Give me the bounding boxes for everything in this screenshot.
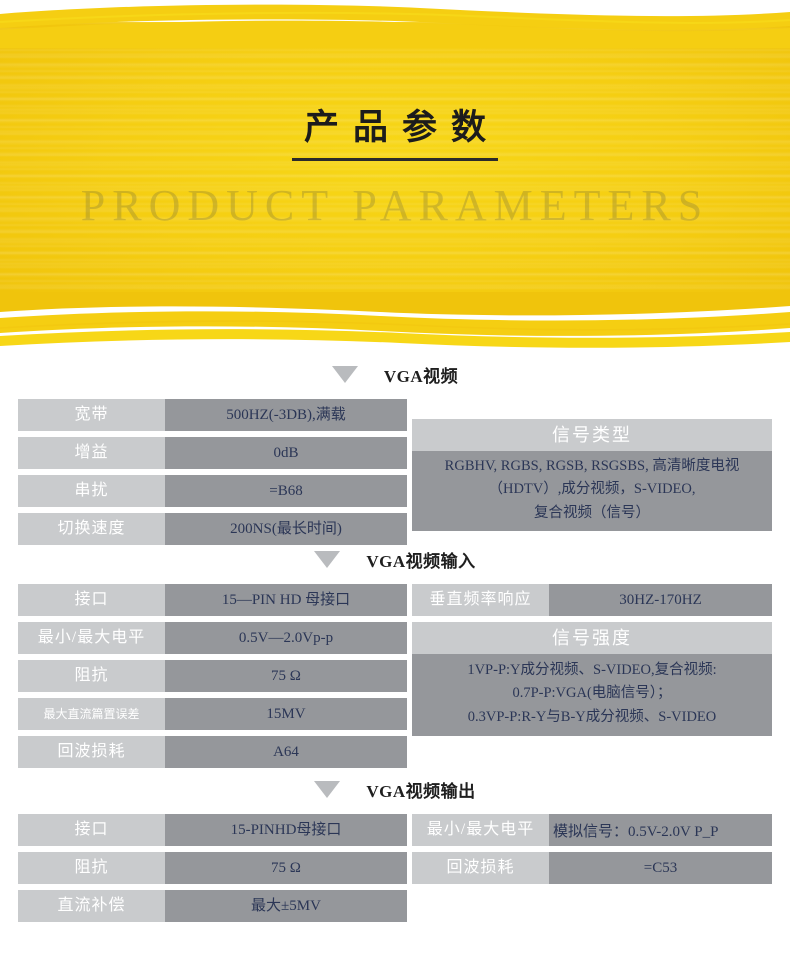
row-value: A64 [165, 736, 407, 768]
row-label: 切换速度 [18, 513, 165, 545]
table-vga-output-left: 接口 15-PINHD母接口 阻抗 75 Ω 直流补偿 最大±5MV [18, 814, 407, 922]
table-row: 阻抗 75 Ω [18, 852, 407, 884]
signal-strength-line: 0.7P-P:VGA(电脑信号）； [416, 682, 768, 705]
product-parameters-page: PRODUCT PARAMETERS 产品参数 VGA视频 宽带 500HZ(-… [0, 0, 790, 955]
table-row: 接口 15—PIN HD 母接口 [18, 584, 407, 616]
row-label: 串扰 [18, 475, 165, 507]
triangle-down-icon [314, 781, 340, 798]
page-title: 产品参数 [290, 108, 500, 148]
table-vga-video-left: 宽带 500HZ(-3DB),满载 增益 0dB 串扰 =B68 切换速度 20… [18, 399, 407, 545]
table-vga-video-right: 信号类型 RGBHV, RGBS, RGSB, RSGSBS, 高清晰度电视 （… [412, 419, 772, 531]
signal-type-line: RGBHV, RGBS, RGSB, RSGSBS, 高清晰度电视 [416, 455, 768, 478]
row-label: 接口 [18, 814, 165, 846]
row-value: 30HZ-170HZ [549, 584, 772, 616]
table-row: 回波损耗 A64 [18, 736, 407, 768]
row-label: 最大直流篇置误差 [18, 698, 165, 730]
row-label: 最小/最大电平 [18, 622, 165, 654]
signal-strength-line: 1VP-P:Y成分视频、S-VIDEO,复合视频: [416, 659, 768, 682]
table-row: 直流补偿 最大±5MV [18, 890, 407, 922]
hero-banner: PRODUCT PARAMETERS 产品参数 [0, 0, 790, 350]
signal-type-body: RGBHV, RGBS, RGSB, RSGSBS, 高清晰度电视 （HDTV）… [412, 451, 772, 531]
row-value: 15MV [165, 698, 407, 730]
signal-strength-body: 1VP-P:Y成分视频、S-VIDEO,复合视频: 0.7P-P:VGA(电脑信… [412, 654, 772, 736]
row-label: 阻抗 [18, 852, 165, 884]
section-header-vga-video-input: VGA视频输入 [0, 539, 790, 579]
table-row: 回波损耗 =C53 [412, 852, 772, 884]
row-label: 最小/最大电平 [412, 814, 549, 846]
signal-type-line: （HDTV）,成分视频，S-VIDEO, [416, 478, 768, 501]
row-value: 15-PINHD母接口 [165, 814, 407, 846]
table-vga-input-left: 接口 15—PIN HD 母接口 最小/最大电平 0.5V—2.0Vp-p 阻抗… [18, 584, 407, 768]
banner-title-block: 产品参数 [0, 108, 790, 161]
table-row: 接口 15-PINHD母接口 [18, 814, 407, 846]
row-label: 回波损耗 [18, 736, 165, 768]
row-value: =C53 [549, 852, 772, 884]
signal-type-line: 复合视频（信号） [416, 502, 768, 525]
table-vga-output-right: 最小/最大电平 模拟信号：0.5V-2.0V P_P 回波损耗 =C53 [412, 814, 772, 884]
row-value: 75 Ω [165, 852, 407, 884]
table-row: 最大直流篇置误差 15MV [18, 698, 407, 730]
banner-subtitle: PRODUCT PARAMETERS [0, 180, 790, 231]
table-row: 宽带 500HZ(-3DB),满载 [18, 399, 407, 431]
row-label: 垂直频率响应 [412, 584, 549, 616]
row-label: 回波损耗 [412, 852, 549, 884]
row-label: 宽带 [18, 399, 165, 431]
row-value: 模拟信号：0.5V-2.0V P_P [549, 814, 772, 846]
row-label: 接口 [18, 584, 165, 616]
row-label: 阻抗 [18, 660, 165, 692]
table-row: 串扰 =B68 [18, 475, 407, 507]
row-value: 200NS(最长时间) [165, 513, 407, 545]
row-label: 直流补偿 [18, 890, 165, 922]
section-header-vga-video-output: VGA视频输出 [0, 769, 790, 809]
section-title: VGA视频 [384, 362, 458, 387]
row-value: 0dB [165, 437, 407, 469]
banner-background [0, 22, 790, 304]
section-body-vga-video: 宽带 500HZ(-3DB),满载 增益 0dB 串扰 =B68 切换速度 20… [0, 394, 790, 539]
row-value: 500HZ(-3DB),满载 [165, 399, 407, 431]
section-body-vga-video-input: 接口 15—PIN HD 母接口 最小/最大电平 0.5V—2.0Vp-p 阻抗… [0, 579, 790, 769]
signal-strength-line: 0.3VP-P:R-Y与B-Y成分视频、S-VIDEO [416, 706, 768, 729]
row-value: 75 Ω [165, 660, 407, 692]
table-row: 最小/最大电平 0.5V—2.0Vp-p [18, 622, 407, 654]
table-row: 切换速度 200NS(最长时间) [18, 513, 407, 545]
section-body-vga-video-output: 接口 15-PINHD母接口 阻抗 75 Ω 直流补偿 最大±5MV 最小/最大… [0, 809, 790, 929]
row-value: 最大±5MV [165, 890, 407, 922]
row-value: =B68 [165, 475, 407, 507]
signal-strength-header: 信号强度 [412, 622, 772, 654]
table-row: 增益 0dB [18, 437, 407, 469]
row-label: 增益 [18, 437, 165, 469]
title-underline [292, 158, 498, 161]
row-value: 0.5V—2.0Vp-p [165, 622, 407, 654]
section-header-vga-video: VGA视频 [0, 354, 790, 394]
section-title: VGA视频输出 [366, 777, 475, 802]
row-value: 15—PIN HD 母接口 [165, 584, 407, 616]
signal-type-header: 信号类型 [412, 419, 772, 451]
table-vga-input-right: 垂直频率响应 30HZ-170HZ 信号强度 1VP-P:Y成分视频、S-VID… [412, 584, 772, 736]
triangle-down-icon [332, 366, 358, 383]
table-row: 垂直频率响应 30HZ-170HZ [412, 584, 772, 616]
section-title: VGA视频输入 [366, 547, 475, 572]
triangle-down-icon [314, 551, 340, 568]
table-row: 最小/最大电平 模拟信号：0.5V-2.0V P_P [412, 814, 772, 846]
table-row: 阻抗 75 Ω [18, 660, 407, 692]
